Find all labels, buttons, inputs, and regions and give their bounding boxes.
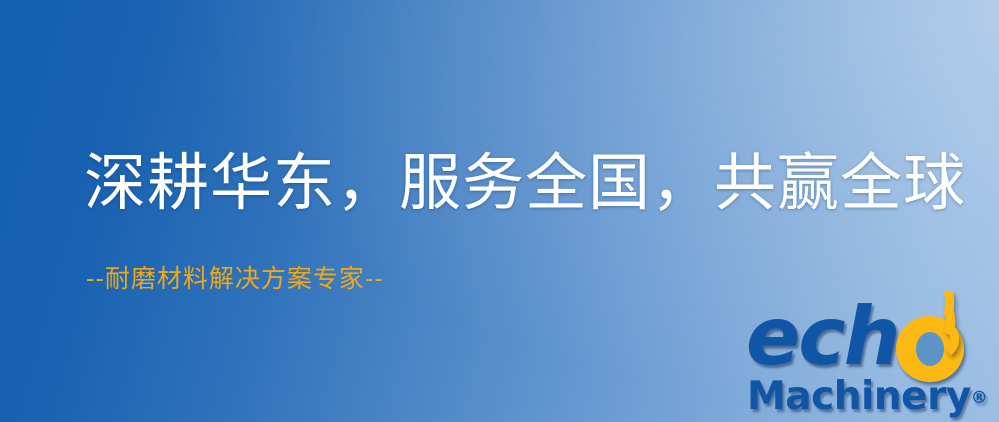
logo-wordmark: ech xyxy=(746,296,999,380)
registered-trademark-icon: ® xyxy=(971,388,988,408)
logo-tagline-text: Machinery xyxy=(747,374,971,419)
banner-headline: 深耕华东，服务全国，共赢全球 xyxy=(84,152,966,214)
echo-machinery-logo: ech Machinery® xyxy=(746,296,999,422)
logo-tagline: Machinery® xyxy=(747,374,988,419)
logo-wordmark-text: ech xyxy=(746,290,899,383)
banner-subtitle: --耐磨材料解决方案专家-- xyxy=(86,266,384,291)
signal-waves-icon xyxy=(942,292,999,358)
promo-banner: 深耕华东，服务全国，共赢全球 --耐磨材料解决方案专家-- ech Machin… xyxy=(0,0,999,422)
